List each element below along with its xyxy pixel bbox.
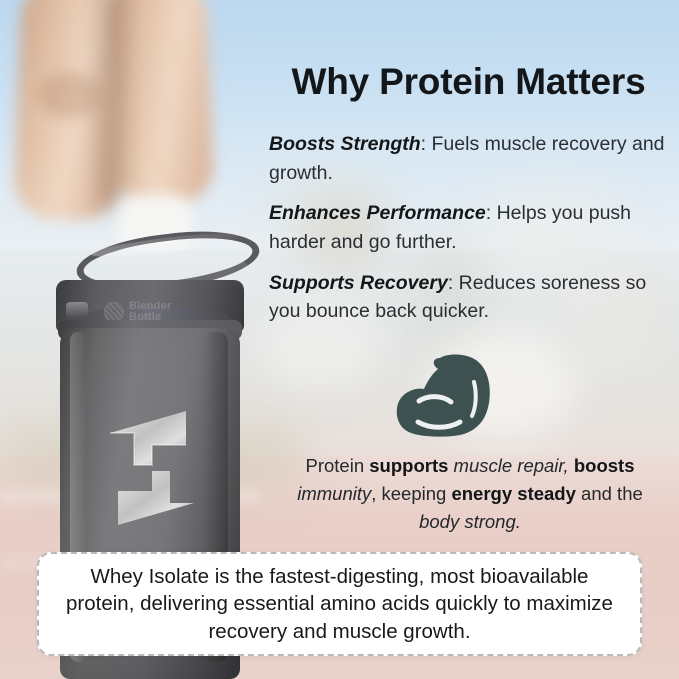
benefit-term: Boosts Strength (269, 133, 421, 155)
benefit-item: Supports Recovery: Reduces soreness so y… (269, 269, 673, 326)
support-text-3: and the (576, 483, 643, 504)
benefit-item: Enhances Performance: Helps you push har… (269, 199, 673, 256)
support-text-2: , keeping (371, 483, 451, 504)
page-title: Why Protein Matters (258, 62, 679, 103)
support-bold-boosts: boosts (574, 455, 635, 476)
support-italic-body-strong: body strong. (419, 511, 521, 532)
runner-legs (0, 0, 270, 260)
support-bold-supports: supports (369, 455, 448, 476)
double-arrow-logo-icon (90, 403, 214, 533)
support-text-1: Protein (306, 455, 370, 476)
support-italic-immunity: immunity (297, 483, 371, 504)
support-bold-energy-steady: energy steady (451, 483, 575, 504)
benefits-list: Boosts Strength: Fuels muscle recovery a… (269, 130, 673, 338)
leg-shadow (96, 0, 124, 210)
lid-spout (66, 302, 88, 318)
benefit-item: Boosts Strength: Fuels muscle recovery a… (269, 130, 673, 187)
callout-text: Whey Isolate is the fastest-digesting, m… (60, 563, 620, 645)
blenderbottle-swirl-icon (104, 302, 124, 322)
promo-graphic: Blender Bottle (0, 0, 679, 679)
callout-card: Whey Isolate is the fastest-digesting, m… (37, 552, 642, 656)
benefit-term: Enhances Performance (269, 202, 486, 224)
benefit-term: Supports Recovery (269, 272, 448, 294)
flexed-bicep-icon (388, 352, 498, 444)
knee-shading (38, 72, 100, 118)
support-italic-muscle-repair: muscle repair, (448, 455, 568, 476)
support-paragraph: Protein supports muscle repair, boosts i… (286, 452, 654, 536)
